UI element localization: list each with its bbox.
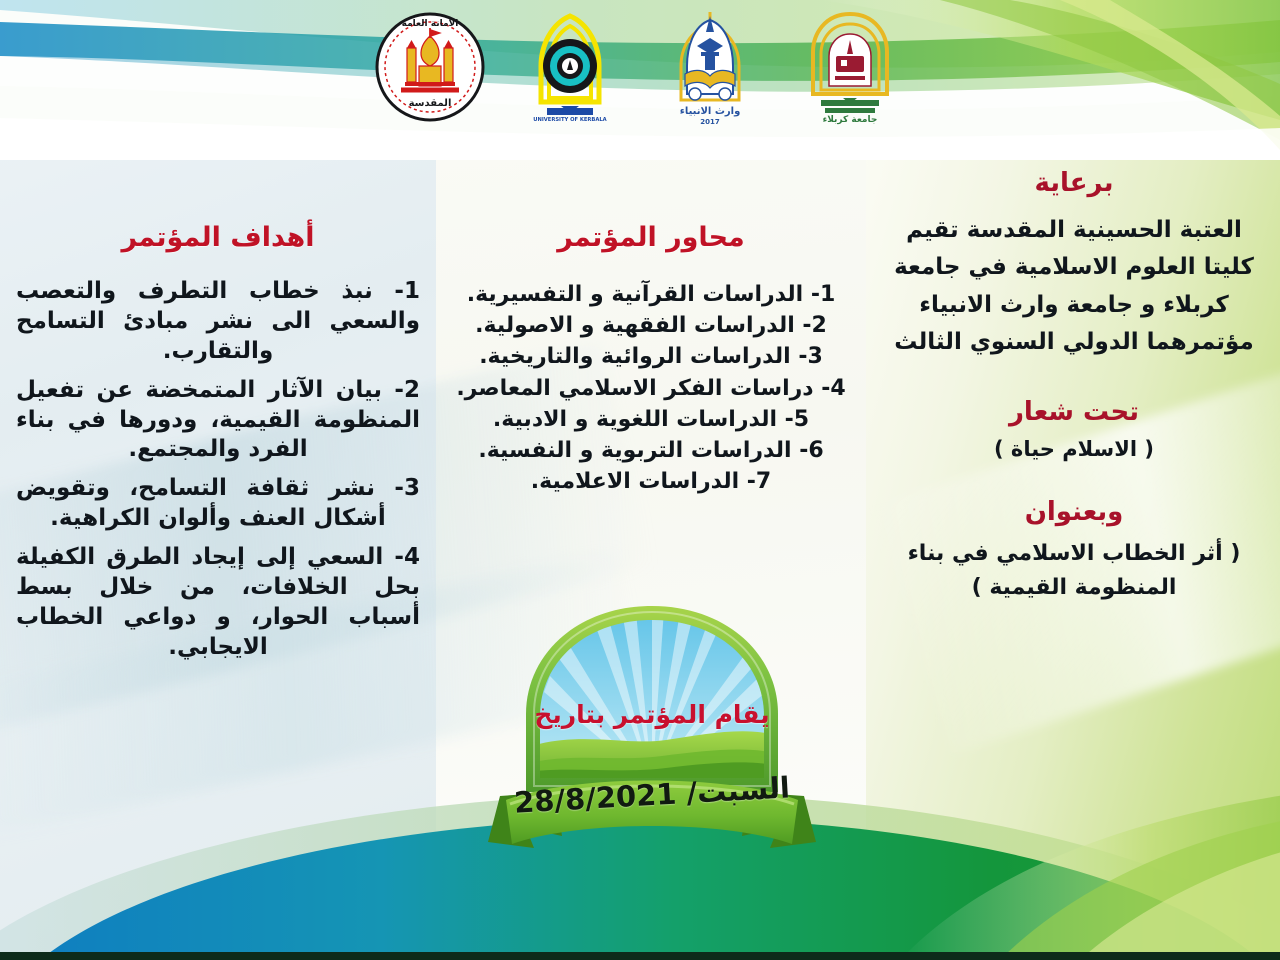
sponsor-label: برعاية xyxy=(872,168,1276,198)
list-item: 2- الدراسات الفقهية و الاصولية. xyxy=(440,310,862,341)
list-item: 7- الدراسات الاعلامية. xyxy=(440,466,862,497)
axes-column: محاور المؤتمر 1- الدراسات القرآنية و الت… xyxy=(440,222,862,498)
slogan-text: ( الاسلام حياة ) xyxy=(872,437,1276,461)
svg-text:جامعة كربلاء: جامعة كربلاء xyxy=(823,115,878,125)
objectives-heading: أهداف المؤتمر xyxy=(6,222,430,253)
conference-poster: جامعة كربلاء وارث الانبياء 2017 xyxy=(0,0,1280,960)
slogan-label: تحت شعار xyxy=(872,397,1276,427)
logo-row: جامعة كربلاء وارث الانبياء 2017 xyxy=(0,8,1280,133)
list-item: 5- الدراسات اللغوية و الادبية. xyxy=(440,404,862,435)
list-item: 3- نشر ثقافة التسامح، وتقويض أشكال العنف… xyxy=(6,474,430,534)
list-item: 4- السعي إلى إيجاد الطرق الكفيلة بحل الخ… xyxy=(6,543,430,663)
sponsor-body-text: العتبة الحسينية المقدسة تقيم كليتا العلو… xyxy=(872,212,1276,361)
svg-text:وارث الانبياء: وارث الانبياء xyxy=(680,106,741,117)
svg-text:المقدسة: المقدسة xyxy=(409,98,452,109)
karbala-university-logo: جامعة كربلاء xyxy=(791,8,909,126)
svg-text:2017: 2017 xyxy=(700,118,720,126)
axes-heading: محاور المؤتمر xyxy=(440,222,862,253)
emblem-caption: يقام المؤتمر بتاريخ xyxy=(466,700,838,729)
list-item: 6- الدراسات التربوية و النفسية. xyxy=(440,435,862,466)
college-of-islamic-sciences-logo: UNIVERSITY OF KERBALA xyxy=(511,8,629,126)
conference-title-text: ( أثر الخطاب الاسلامي في بناء المنظومة ا… xyxy=(872,537,1276,605)
list-item: 3- الدراسات الروائية والتاريخية. xyxy=(440,341,862,372)
sponsorship-column: برعاية العتبة الحسينية المقدسة تقيم كليت… xyxy=(872,168,1276,605)
list-item: 4- دراسات الفكر الاسلامي المعاصر. xyxy=(440,373,862,404)
list-item: 1- الدراسات القرآنية و التفسيرية. xyxy=(440,279,862,310)
date-emblem: يقام المؤتمر بتاريخ السبت/ 28/8/2021 xyxy=(466,596,838,876)
title-label: وبعنوان xyxy=(872,497,1276,527)
imam-hussein-holy-shrine-logo: المقدسة الامانة العامة xyxy=(371,8,489,126)
objectives-list: 1- نبذ خطاب التطرف والتعصب والسعي الى نش… xyxy=(6,277,430,663)
list-item: 1- نبذ خطاب التطرف والتعصب والسعي الى نش… xyxy=(6,277,430,367)
svg-text:الامانة العامة: الامانة العامة xyxy=(402,19,459,29)
svg-text:UNIVERSITY OF KERBALA: UNIVERSITY OF KERBALA xyxy=(533,117,606,123)
objectives-column: أهداف المؤتمر 1- نبذ خطاب التطرف والتعصب… xyxy=(6,222,430,672)
warith-al-anbiya-university-logo: وارث الانبياء 2017 xyxy=(651,8,769,126)
axes-list: 1- الدراسات القرآنية و التفسيرية. 2- الد… xyxy=(440,279,862,498)
list-item: 2- بيان الآثار المتمخضة عن تفعيل المنظوم… xyxy=(6,376,430,466)
